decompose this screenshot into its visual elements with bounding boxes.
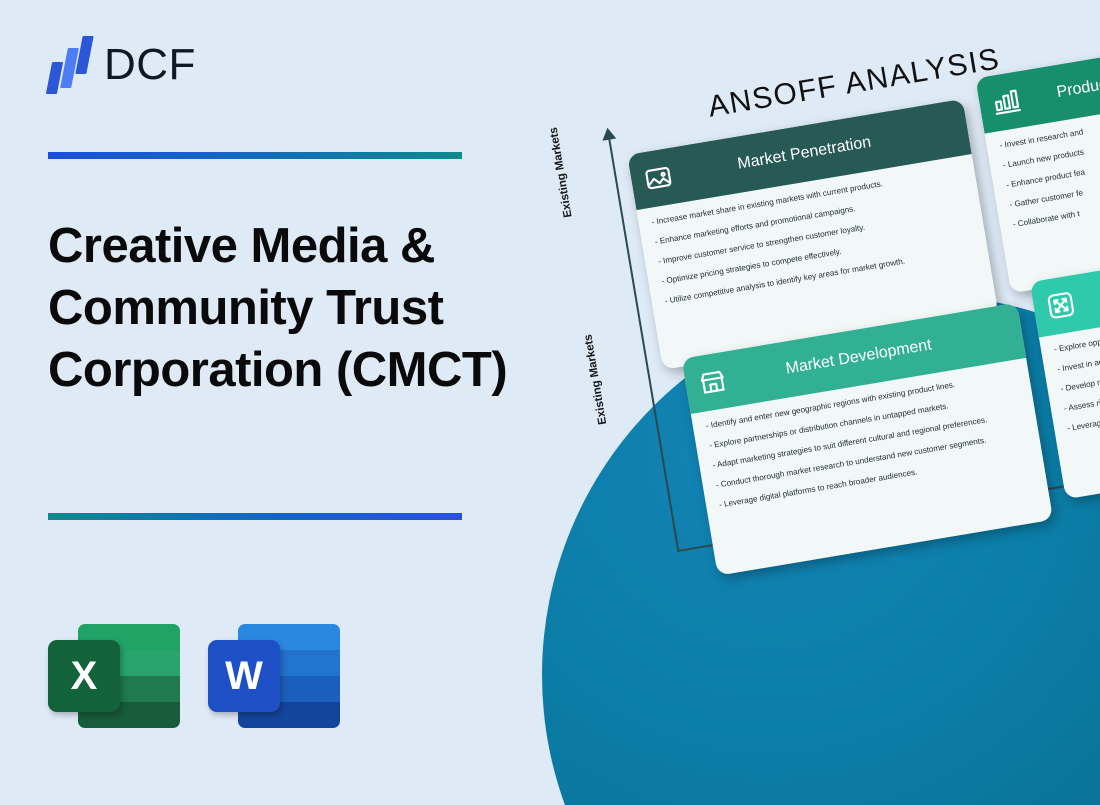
y-axis-label-lower: Existing Markets xyxy=(582,333,609,425)
word-file-icon[interactable]: W xyxy=(208,620,340,732)
ansoff-matrix: ANSOFF ANALYSIS Existing Markets Existin… xyxy=(520,0,1100,663)
bar-chart-icon xyxy=(987,82,1026,121)
quadrant-title: Product Development xyxy=(1022,50,1100,108)
word-letter: W xyxy=(208,640,280,712)
page-title: Creative Media & Community Trust Corpora… xyxy=(48,215,518,401)
ansoff-matrix-graphic: ANSOFF ANALYSIS Existing Markets Existin… xyxy=(520,0,1100,805)
expand-arrows-icon xyxy=(1041,286,1080,325)
brand-logo: DCF xyxy=(48,36,196,94)
download-icons: X W xyxy=(48,620,340,732)
divider-top xyxy=(48,152,462,159)
image-icon xyxy=(639,158,678,197)
y-axis-arrow-icon xyxy=(601,127,617,141)
divider-bottom xyxy=(48,513,462,520)
excel-letter: X xyxy=(48,640,120,712)
brand-name: DCF xyxy=(104,40,196,90)
storefront-icon xyxy=(693,362,732,401)
dcf-bars-logo-icon xyxy=(48,36,94,94)
left-info-panel: DCF Creative Media & Community Trust Cor… xyxy=(0,0,540,805)
y-axis-label-upper: Existing Markets xyxy=(548,126,575,218)
excel-file-icon[interactable]: X xyxy=(48,620,180,732)
